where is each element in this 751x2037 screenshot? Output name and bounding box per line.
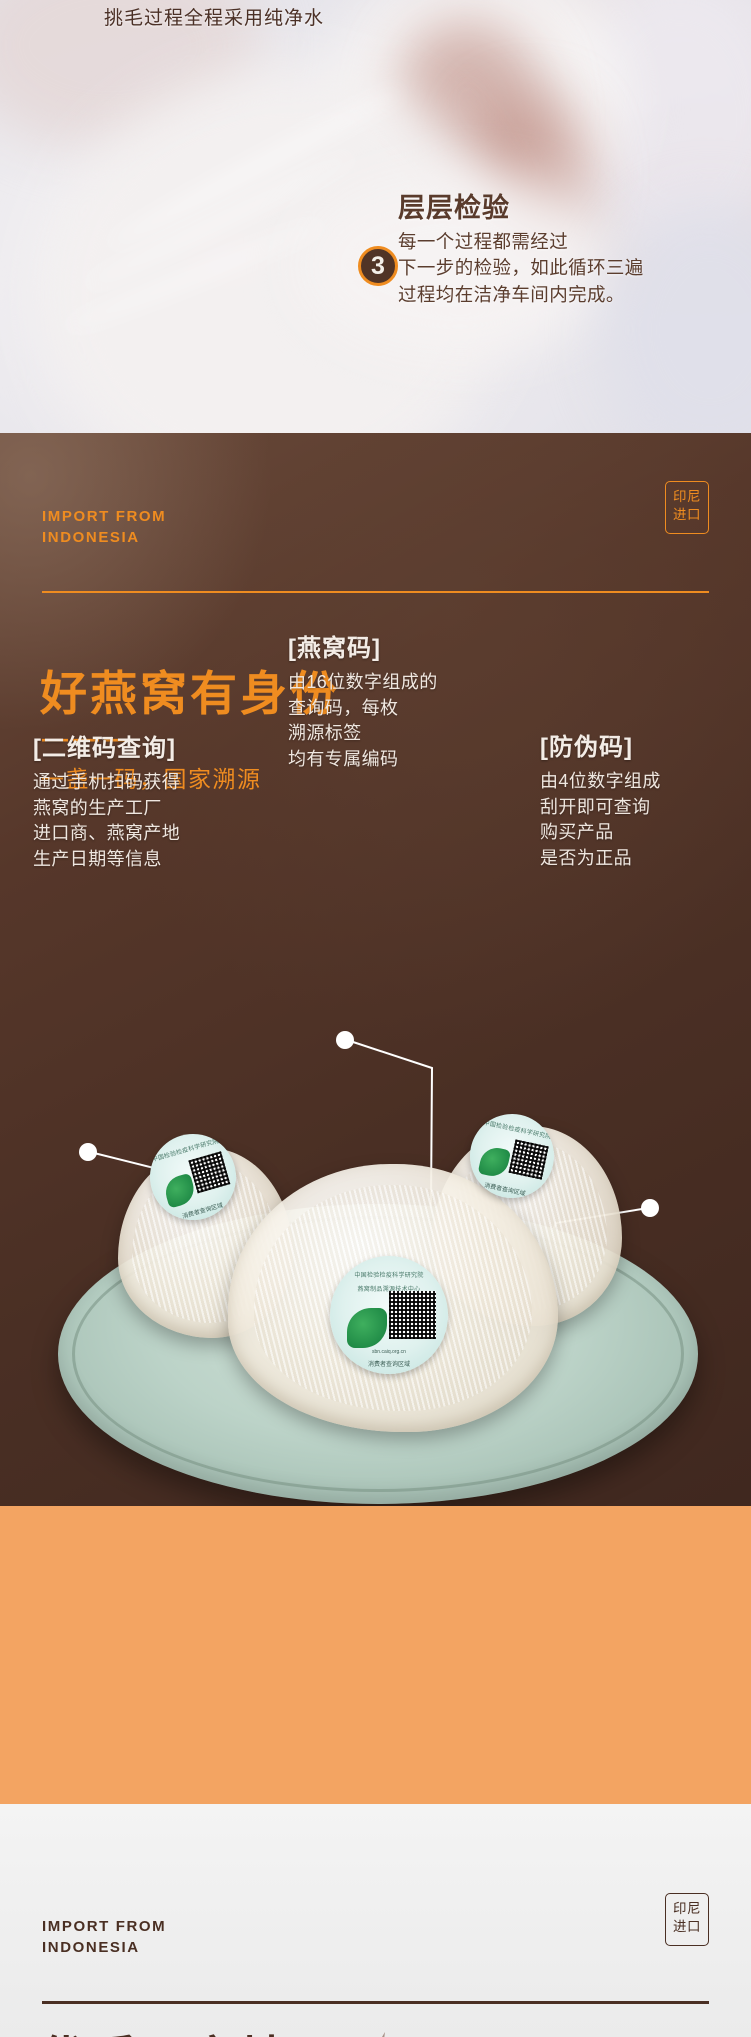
callout-anti-fake-code: [防伪码] 由4位数字组成 刮开即可查询 购买产品 是否为正品: [540, 727, 740, 871]
footer-import-from-indonesia-label: IMPORT FROM INDONESIA: [42, 1916, 166, 1959]
process-photo-section: 挑毛过程全程采用纯净水 层层检验 每一个过程都需经过 下一步的检验，如此循环三遍…: [0, 0, 751, 433]
step-3-body: 每一个过程都需经过 下一步的检验，如此循环三遍 过程均在洁净车间内完成。: [398, 229, 738, 308]
callout-title: [二维码查询]: [33, 728, 278, 763]
footer-indonesia-import-stamp: 印尼 进口: [665, 1893, 709, 1946]
footer-headline: 优质原产地: [40, 2020, 290, 2037]
swallow-swoosh-icon: [345, 2030, 575, 2037]
callout-body: 通过手机扫码获得 燕窝的生产工厂 进口商、燕窝产地 生产日期等信息: [33, 770, 278, 872]
callout-qr-query: [二维码查询] 通过手机扫码获得 燕窝的生产工厂 进口商、燕窝产地 生产日期等信…: [33, 728, 278, 872]
sticker-arc-text: 中国检验检疫科学研究院: [330, 1270, 448, 1279]
step-number-badge: 3: [358, 246, 398, 286]
traceability-sticker-center: 中国检验检疫科学研究院 燕窝制品溯源技术中心 sbn.caiq.org.cn 消…: [330, 1256, 448, 1374]
sticker-url-text: sbn.caiq.org.cn: [330, 1349, 448, 1355]
traceability-section: IMPORT FROM INDONESIA 印尼 进口 好燕窝有身份 ——— 一…: [0, 433, 751, 1506]
callout-nest-code: [燕窝码] 由16位数字组成的 查询码，每枚 溯源标签 均有专属编码: [288, 628, 523, 772]
product-photo: 中国检验检疫科学研究院 消费者查询区域 中国检验检疫科学研究院 消费者查询区域 …: [0, 1076, 751, 1506]
sticker-foot-text: 消费者查询区域: [330, 1359, 448, 1368]
orange-band: [0, 1506, 751, 1804]
qr-code-icon: [389, 1291, 436, 1338]
callout-title: [燕窝码]: [288, 628, 523, 663]
qr-code-icon: [188, 1151, 231, 1194]
step-3-title: 层层检验: [398, 186, 738, 225]
caiq-leaf-icon: [347, 1308, 387, 1348]
footer-divider-rule: [42, 2001, 709, 2004]
qr-code-icon: [509, 1140, 549, 1180]
origin-section: IMPORT FROM INDONESIA 印尼 进口 优质原产地: [0, 1804, 751, 2037]
step-3-text-block: 层层检验 每一个过程都需经过 下一步的检验，如此循环三遍 过程均在洁净车间内完成…: [398, 186, 738, 308]
callout-body: 由4位数字组成 刮开即可查询 购买产品 是否为正品: [540, 769, 740, 871]
callout-body: 由16位数字组成的 查询码，每枚 溯源标签 均有专属编码: [288, 670, 523, 772]
callout-title: [防伪码]: [540, 727, 740, 762]
caiq-leaf-icon: [478, 1145, 512, 1179]
process-caption: 挑毛过程全程采用纯净水: [104, 3, 324, 30]
